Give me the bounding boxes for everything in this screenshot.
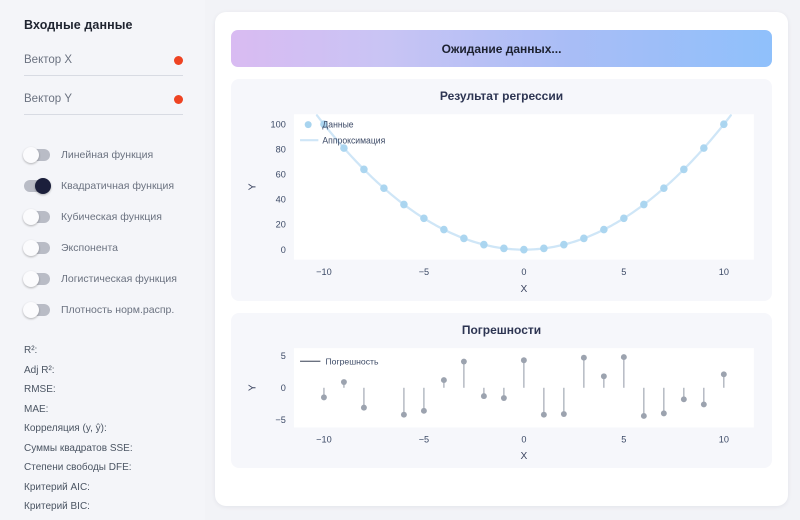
statistics-group: R²:Adj R²:RMSE:MAE:Корреляция (y, ŷ):Сум… — [24, 341, 183, 517]
x-tick-label: −10 — [316, 435, 332, 445]
residuals-plot-svg[interactable]: YX−505−10−50510Погрешность — [239, 342, 764, 462]
data-point — [720, 120, 728, 128]
data-point — [420, 214, 428, 222]
data-point — [640, 201, 648, 209]
stat-row-6: Суммы квадратов SSE: — [24, 439, 183, 459]
x-tick-label: −5 — [419, 435, 429, 445]
y-axis-label: Y — [247, 183, 258, 190]
toggle-label: Кубическая функция — [61, 211, 162, 223]
residuals-chart-title: Погрешности — [239, 323, 764, 337]
toggle-switch[interactable] — [24, 242, 50, 254]
residual-marker — [421, 408, 427, 414]
data-point — [360, 166, 368, 174]
residual-marker — [321, 394, 327, 400]
stat-label: Критерий BIC: — [24, 501, 90, 512]
data-point — [680, 166, 688, 174]
input-fields-group: Вектор XВектор Y — [24, 54, 183, 132]
residual-marker — [461, 359, 467, 365]
regression-chart-card: Результат регрессии YX020406080100−10−50… — [231, 79, 772, 301]
app-root: Входные данные Вектор XВектор Y Линейная… — [0, 0, 800, 520]
stat-label: Корреляция (y, ŷ): — [24, 423, 107, 434]
data-point — [660, 184, 668, 192]
residual-marker — [481, 393, 487, 399]
data-point — [560, 241, 568, 249]
data-point — [580, 235, 588, 243]
toggle-knob-icon — [23, 240, 39, 256]
data-point — [340, 144, 348, 152]
residual-marker — [541, 412, 547, 418]
y-axis-label: Y — [247, 384, 258, 391]
residuals-plot-area[interactable]: YX−505−10−50510Погрешность — [239, 342, 764, 462]
residual-marker — [701, 401, 707, 407]
residual-marker — [601, 373, 607, 379]
y-tick-label: 100 — [271, 119, 286, 129]
toggle-switch[interactable] — [24, 211, 50, 223]
legend-marker-data-icon — [305, 121, 312, 128]
residual-marker — [361, 405, 367, 411]
residuals-chart-card: Погрешности YX−505−10−50510Погрешность — [231, 313, 772, 468]
data-point — [460, 235, 468, 243]
x-tick-label: 5 — [621, 267, 626, 277]
data-point — [520, 246, 528, 254]
status-dot-icon — [174, 95, 183, 104]
toggle-knob-icon — [23, 302, 39, 318]
y-tick-label: 40 — [276, 195, 286, 205]
toggle-row-3[interactable]: Кубическая функция — [24, 203, 183, 230]
stat-row-5: Корреляция (y, ŷ): — [24, 419, 183, 439]
residual-marker — [581, 355, 587, 361]
stat-row-4: MAE: — [24, 400, 183, 420]
residual-marker — [721, 371, 727, 377]
toggle-label: Экспонента — [61, 242, 118, 254]
residual-marker — [561, 411, 567, 417]
y-tick-label: 0 — [281, 383, 286, 393]
input-field-row[interactable]: Вектор X — [24, 54, 183, 66]
sidebar: Входные данные Вектор XВектор Y Линейная… — [0, 0, 205, 520]
main-panel: Ожидание данных... Результат регрессии Y… — [215, 12, 788, 506]
regression-plot-area[interactable]: YX020406080100−10−50510ДанныеАппроксимац… — [239, 108, 764, 295]
toggle-label: Логистическая функция — [61, 273, 177, 285]
data-point — [440, 226, 448, 234]
model-toggles-group: Линейная функцияКвадратичная функцияКуби… — [24, 141, 183, 327]
residual-marker — [521, 357, 527, 363]
sidebar-title: Входные данные — [24, 18, 183, 32]
data-point — [500, 245, 508, 253]
status-banner: Ожидание данных... — [231, 30, 772, 67]
input-field-1[interactable]: Вектор X — [24, 54, 183, 76]
toggle-knob-icon — [23, 271, 39, 287]
x-axis-label: X — [520, 284, 527, 295]
legend-label-residual: Погрешность — [325, 356, 378, 366]
stat-label: RMSE: — [24, 384, 56, 395]
stat-label: Adj R²: — [24, 365, 55, 376]
data-point — [380, 184, 388, 192]
y-tick-label: 0 — [281, 245, 286, 255]
status-dot-icon — [174, 56, 183, 65]
input-field-underline — [24, 114, 183, 115]
toggle-knob-icon — [23, 209, 39, 225]
stat-label: R²: — [24, 345, 37, 356]
stat-row-3: RMSE: — [24, 380, 183, 400]
y-tick-label: 80 — [276, 144, 286, 154]
y-tick-label: 60 — [276, 169, 286, 179]
main-content-wrapper: Ожидание данных... Результат регрессии Y… — [205, 0, 800, 520]
residual-marker — [621, 354, 627, 360]
x-tick-label: 0 — [521, 267, 526, 277]
x-tick-label: −10 — [316, 267, 332, 277]
x-tick-label: −5 — [419, 267, 429, 277]
y-tick-label: −5 — [275, 415, 285, 425]
data-point — [480, 241, 488, 249]
toggle-row-4[interactable]: Экспонента — [24, 234, 183, 261]
toggle-label: Линейная функция — [61, 149, 153, 161]
x-tick-label: 10 — [719, 267, 729, 277]
toggle-label: Квадратичная функция — [61, 180, 174, 192]
residual-marker — [501, 395, 507, 401]
regression-plot-svg[interactable]: YX020406080100−10−50510ДанныеАппроксимац… — [239, 108, 764, 295]
residual-marker — [341, 379, 347, 385]
status-banner-text: Ожидание данных... — [442, 42, 562, 56]
data-point — [700, 144, 708, 152]
residual-marker — [681, 396, 687, 402]
y-tick-label: 5 — [281, 351, 286, 361]
input-field-label: Вектор Y — [24, 93, 72, 105]
stat-label: Суммы квадратов SSE: — [24, 443, 133, 454]
input-field-row[interactable]: Вектор Y — [24, 93, 183, 105]
legend-label-data: Данные — [322, 120, 353, 130]
stat-row-2: Adj R²: — [24, 361, 183, 381]
toggle-row-1[interactable]: Линейная функция — [24, 141, 183, 168]
residual-marker — [401, 412, 407, 418]
residual-marker — [441, 377, 447, 383]
stat-label: Степени свободы DFE: — [24, 462, 132, 473]
stat-row-1: R²: — [24, 341, 183, 361]
residual-marker — [641, 413, 647, 419]
stat-row-7: Степени свободы DFE: — [24, 458, 183, 478]
data-point — [620, 214, 628, 222]
toggle-switch[interactable] — [24, 304, 50, 316]
input-field-label: Вектор X — [24, 54, 72, 66]
toggle-label: Плотность норм.распр. — [61, 304, 174, 316]
data-point — [540, 245, 548, 253]
x-tick-label: 0 — [521, 435, 526, 445]
input-field-2[interactable]: Вектор Y — [24, 93, 183, 115]
input-field-underline — [24, 75, 183, 76]
x-tick-label: 5 — [621, 435, 626, 445]
data-point — [400, 201, 408, 209]
x-tick-label: 10 — [719, 435, 729, 445]
legend-label-fit: Аппроксимация — [322, 135, 385, 145]
y-tick-label: 20 — [276, 220, 286, 230]
toggle-switch[interactable] — [24, 273, 50, 285]
toggle-switch[interactable] — [24, 149, 50, 161]
toggle-row-6[interactable]: Плотность норм.распр. — [24, 296, 183, 323]
stat-row-8: Критерий AIC: — [24, 478, 183, 498]
stat-row-9: Критерий BIC: — [24, 497, 183, 517]
toggle-knob-icon — [35, 178, 51, 194]
residual-marker — [661, 410, 667, 416]
x-axis-label: X — [520, 451, 527, 462]
toggle-knob-icon — [23, 147, 39, 163]
stat-label: MAE: — [24, 404, 48, 415]
toggle-switch[interactable] — [24, 180, 50, 192]
stat-label: Критерий AIC: — [24, 482, 90, 493]
data-point — [600, 226, 608, 234]
toggle-row-5[interactable]: Логистическая функция — [24, 265, 183, 292]
toggle-row-2[interactable]: Квадратичная функция — [24, 172, 183, 199]
regression-chart-title: Результат регрессии — [239, 89, 764, 103]
